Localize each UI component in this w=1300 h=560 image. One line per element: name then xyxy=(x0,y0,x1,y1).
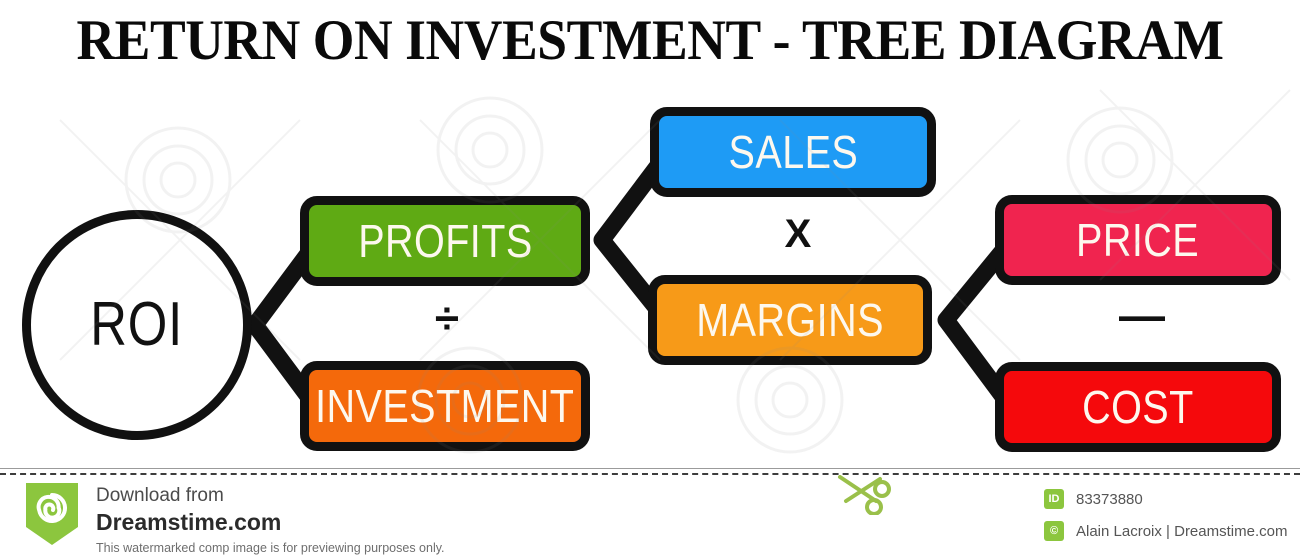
node-cost[interactable]: COST xyxy=(995,362,1281,452)
node-sales-label: SALES xyxy=(728,128,858,176)
footer-metadata: ID 83373880 © Alain Lacroix | Dreamstime… xyxy=(1044,489,1287,553)
copyright-badge-icon: © xyxy=(1044,521,1064,541)
credit-row: © Alain Lacroix | Dreamstime.com xyxy=(1044,521,1287,541)
credit-value: Alain Lacroix | Dreamstime.com xyxy=(1076,523,1287,540)
node-price-label: PRICE xyxy=(1076,216,1199,264)
node-cost-label: COST xyxy=(1082,383,1194,431)
image-id-row: ID 83373880 xyxy=(1044,489,1287,509)
cut-line-divider xyxy=(0,473,1300,475)
divide-operator: ÷ xyxy=(407,297,487,341)
multiply-operator: X xyxy=(758,214,838,254)
watermark-note: This watermarked comp image is for previ… xyxy=(96,539,445,557)
node-roi[interactable]: ROI xyxy=(22,210,252,440)
scissors-icon xyxy=(836,475,896,515)
node-investment-label: INVESTMENT xyxy=(315,382,574,430)
brand-name-label: Dreamstime.com xyxy=(96,508,445,536)
footer-brand-text: Download from Dreamstime.com This waterm… xyxy=(96,483,445,557)
diagram-canvas: ROI PROFITS INVESTMENT SALES MARGINS PRI… xyxy=(0,0,1300,468)
minus-operator: — xyxy=(1102,292,1182,338)
id-badge-icon: ID xyxy=(1044,489,1064,509)
node-investment[interactable]: INVESTMENT xyxy=(300,361,590,451)
node-profits[interactable]: PROFITS xyxy=(300,196,590,286)
node-profits-label: PROFITS xyxy=(358,217,532,265)
node-sales[interactable]: SALES xyxy=(650,107,936,197)
node-margins-label: MARGINS xyxy=(696,296,884,344)
node-price[interactable]: PRICE xyxy=(995,195,1281,285)
node-margins[interactable]: MARGINS xyxy=(648,275,932,365)
footer-brand[interactable]: Download from Dreamstime.com This waterm… xyxy=(24,483,445,557)
image-id-value: 83373880 xyxy=(1076,491,1143,508)
dreamstime-footer: Download from Dreamstime.com This waterm… xyxy=(0,468,1300,560)
node-roi-label: ROI xyxy=(91,294,184,356)
dreamstime-logo-icon xyxy=(24,483,80,547)
roi-tree-diagram-page: RETURN ON INVESTMENT - TREE DIAGRAM ROI … xyxy=(0,0,1300,560)
download-from-label: Download from xyxy=(96,484,445,508)
